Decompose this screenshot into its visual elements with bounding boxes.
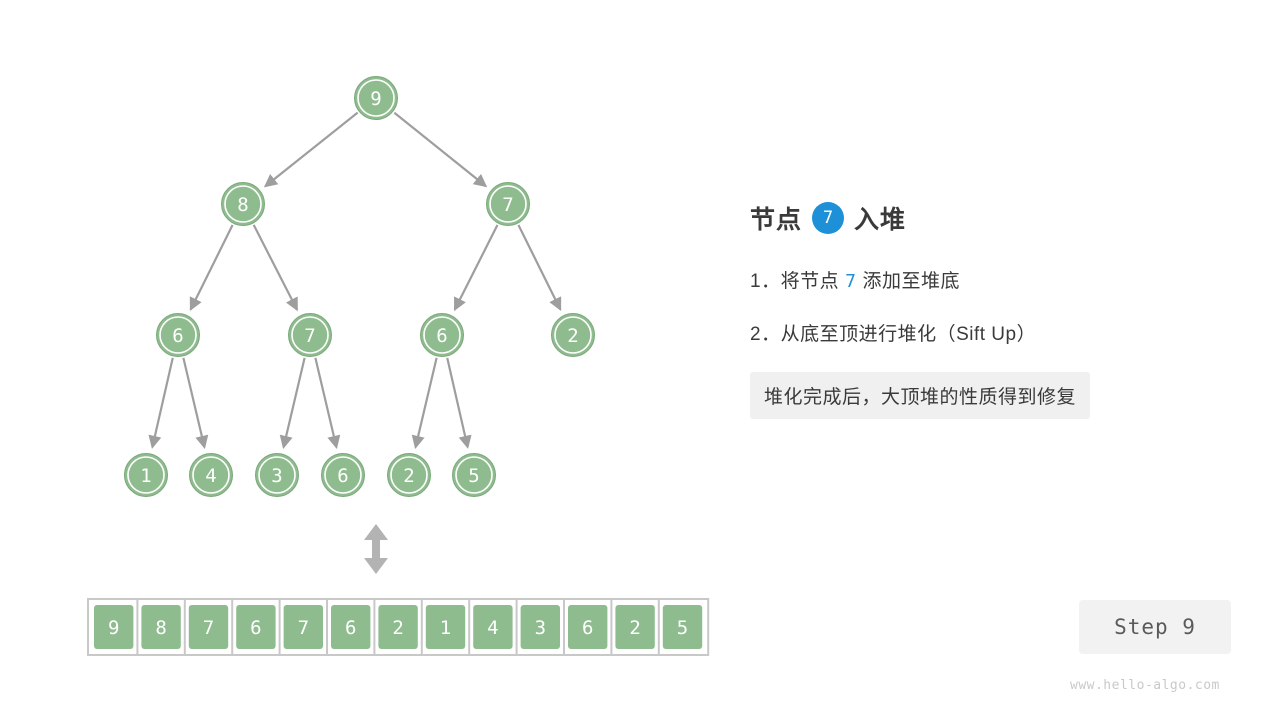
array-cell-label: 6 — [582, 617, 593, 639]
panel-title-badge: 7 — [812, 202, 844, 234]
tree-node: 2 — [388, 454, 431, 497]
panel-step-2: 2． 从底至顶进行堆化（Sift Up） — [750, 319, 1230, 346]
array-cell: 6 — [236, 605, 275, 649]
array-cell: 1 — [426, 605, 465, 649]
panel-step-2-text-before: 从底至顶进行堆化（Sift Up） — [781, 319, 1037, 346]
tree-node: 5 — [453, 454, 496, 497]
panel-step-1-index: 1． — [750, 266, 781, 293]
panel-step-1-highlight: 7 — [839, 271, 862, 292]
array-cell: 8 — [141, 605, 180, 649]
array-cell: 3 — [521, 605, 560, 649]
array-cell-label: 4 — [487, 617, 498, 639]
tree-node-label: 2 — [567, 325, 578, 347]
diagram-canvas: 9876762143625 9876762143625 节点 7 入堆 1． 将… — [0, 0, 1280, 720]
tree-node-label: 4 — [205, 465, 216, 487]
tree-edge — [394, 113, 485, 186]
panel-step-1: 1． 将节点 7 添加至堆底 — [750, 266, 1230, 293]
array-cell-label: 2 — [629, 617, 640, 639]
step-badge: Step 9 — [1079, 600, 1231, 654]
tree-edge — [265, 113, 357, 187]
panel-step-1-text-after: 添加至堆底 — [862, 266, 960, 293]
tree-node-label: 7 — [304, 325, 315, 347]
tree-node-label: 7 — [502, 194, 513, 216]
tree-edge — [183, 358, 204, 447]
array-cell: 4 — [473, 605, 512, 649]
tree-node-label: 1 — [140, 465, 151, 487]
tree-edge — [254, 225, 297, 310]
watermark: www.hello-algo.com — [1070, 678, 1220, 693]
tree-nodes: 9876762143625 — [125, 77, 595, 497]
tree-node: 1 — [125, 454, 168, 497]
tree-node: 7 — [487, 183, 530, 226]
panel-note: 堆化完成后，大顶堆的性质得到修复 — [750, 372, 1090, 419]
array-cell-label: 8 — [155, 617, 166, 639]
array-cell-label: 7 — [203, 617, 214, 639]
tree-edge — [455, 225, 498, 310]
array-cell-label: 7 — [298, 617, 309, 639]
tree-node: 4 — [190, 454, 233, 497]
tree-edge — [315, 358, 336, 447]
tree-edge — [284, 358, 305, 447]
explanation-panel: 节点 7 入堆 1． 将节点 7 添加至堆底 2． 从底至顶进行堆化（Sift … — [750, 196, 1230, 419]
array-cell-label: 1 — [440, 617, 451, 639]
tree-node: 8 — [222, 183, 265, 226]
tree-edge — [416, 358, 437, 447]
array-cell: 9 — [94, 605, 133, 649]
array-cell: 5 — [663, 605, 702, 649]
tree-node-label: 3 — [271, 465, 282, 487]
tree-node: 2 — [552, 314, 595, 357]
tree-node-label: 9 — [370, 88, 381, 110]
tree-node-label: 5 — [468, 465, 479, 487]
tree-node-label: 6 — [436, 325, 447, 347]
tree-edge — [447, 358, 467, 447]
array-cell: 6 — [331, 605, 370, 649]
tree-node: 9 — [355, 77, 398, 120]
tree-node-label: 8 — [237, 194, 248, 216]
tree-node: 6 — [322, 454, 365, 497]
swap-vertical-icon — [364, 524, 388, 574]
array-cell: 7 — [284, 605, 323, 649]
array-cell-label: 6 — [250, 617, 261, 639]
tree-node-label: 2 — [403, 465, 414, 487]
array-representation: 9876762143625 — [88, 599, 708, 655]
panel-step-2-index: 2． — [750, 319, 781, 346]
tree-node-label: 6 — [337, 465, 348, 487]
array-cell: 7 — [189, 605, 228, 649]
tree-node: 3 — [256, 454, 299, 497]
panel-title-suffix: 入堆 — [854, 200, 906, 236]
tree-edges — [152, 113, 560, 448]
array-cell: 2 — [615, 605, 654, 649]
tree-node: 6 — [421, 314, 464, 357]
panel-title: 节点 7 入堆 — [750, 196, 1230, 240]
tree-node: 6 — [157, 314, 200, 357]
panel-title-prefix: 节点 — [750, 200, 802, 236]
tree-node: 7 — [289, 314, 332, 357]
tree-edge — [191, 225, 233, 309]
tree-edge — [152, 358, 172, 447]
tree-node-label: 6 — [172, 325, 183, 347]
array-cell-label: 5 — [677, 617, 688, 639]
array-cell-label: 9 — [108, 617, 119, 639]
panel-step-1-text-before: 将节点 — [781, 266, 840, 293]
array-cell-label: 2 — [392, 617, 403, 639]
array-cell: 6 — [568, 605, 607, 649]
array-cell-label: 6 — [345, 617, 356, 639]
array-cell-label: 3 — [535, 617, 546, 639]
array-cell: 2 — [378, 605, 417, 649]
tree-edge — [518, 225, 560, 309]
